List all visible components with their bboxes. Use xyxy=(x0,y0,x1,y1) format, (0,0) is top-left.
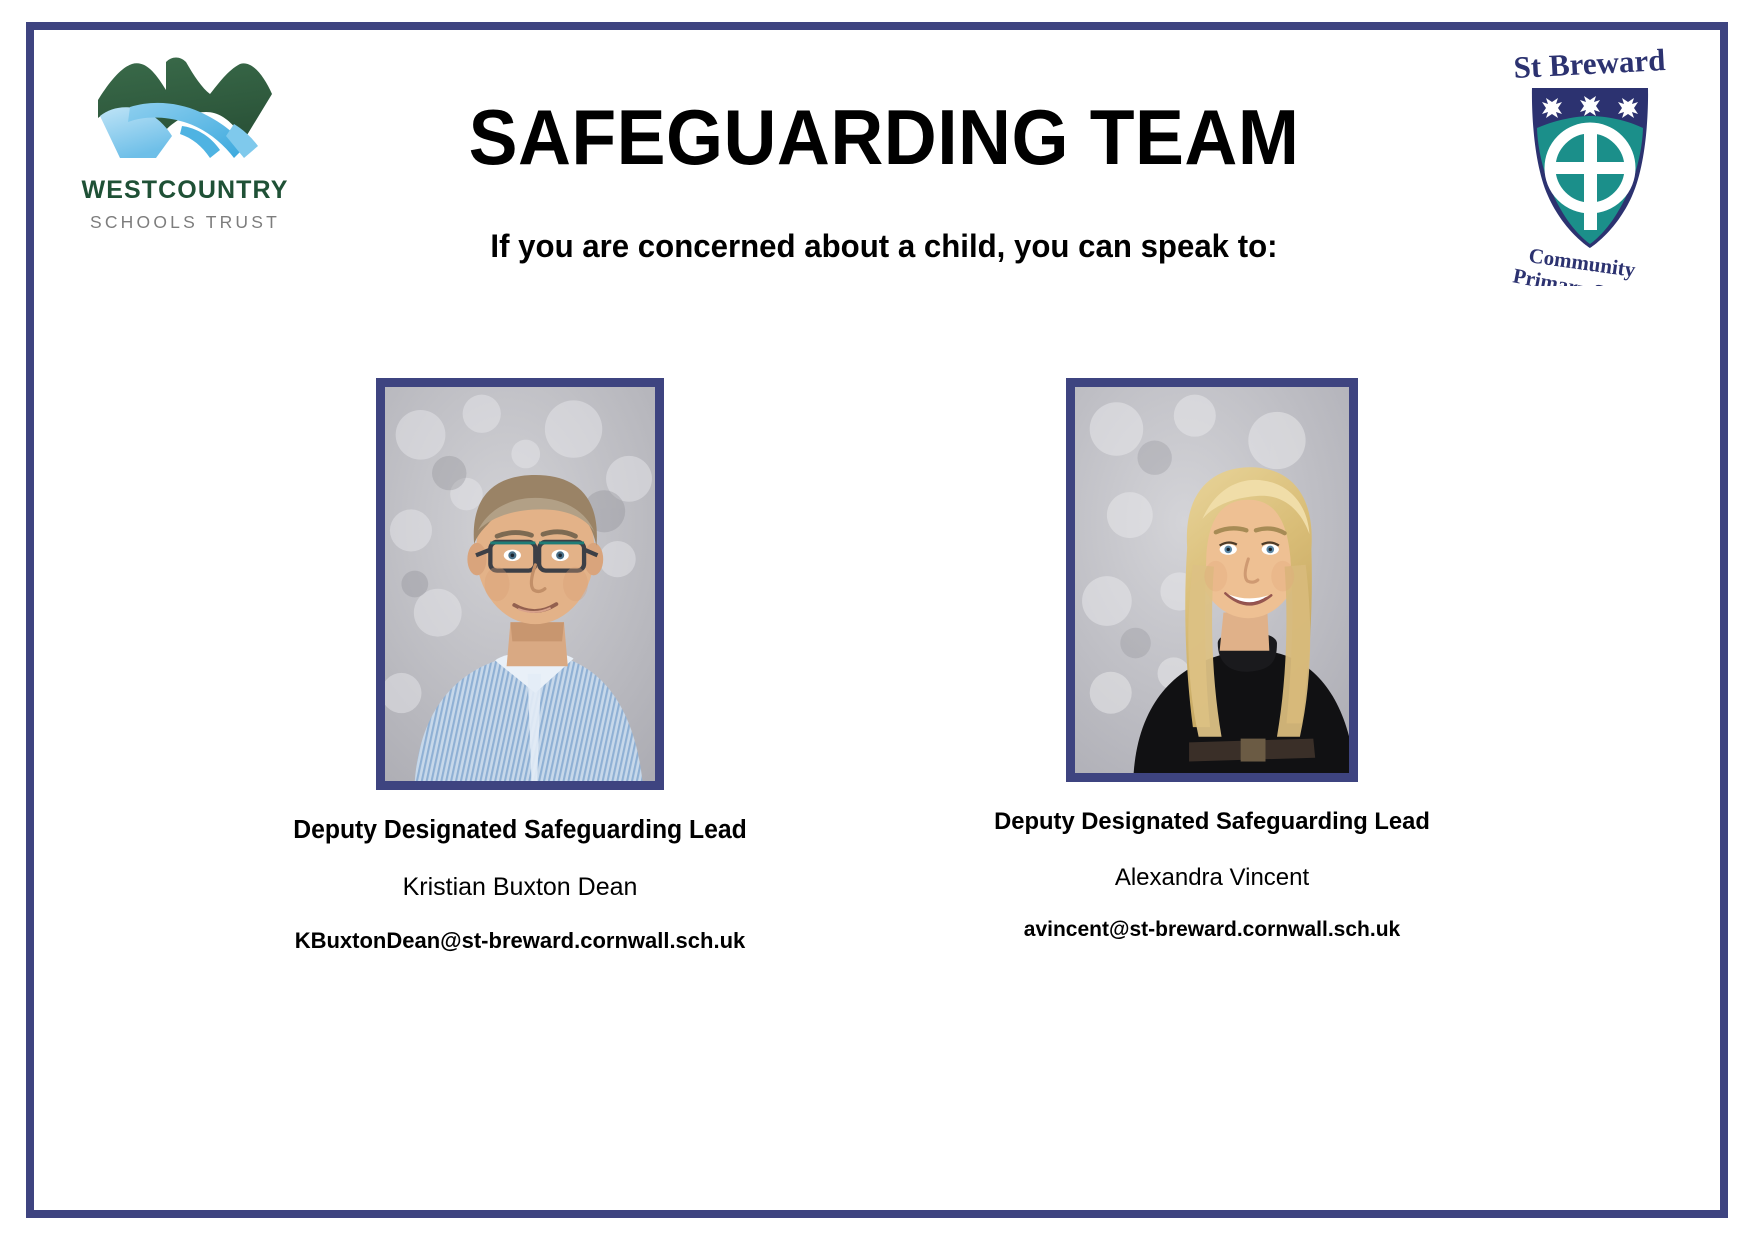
st-breward-crest: St Breward Community Primary School xyxy=(1490,36,1690,286)
page-title: SAFEGUARDING TEAM xyxy=(367,98,1401,176)
person-card: Deputy Designated Safeguarding Lead Kris… xyxy=(237,378,877,954)
portrait-frame xyxy=(1066,378,1358,782)
portrait-alexandra-vincent xyxy=(1075,387,1349,773)
trust-logo-subtitle: SCHOOLS TRUST xyxy=(90,212,280,233)
trust-logo-name: WESTCOUNTRY xyxy=(82,176,289,205)
portrait-kristian-buxton-dean xyxy=(385,387,655,781)
svg-text:St Breward: St Breward xyxy=(1513,42,1666,85)
safeguarding-poster: WESTCOUNTRY SCHOOLS TRUST SAFEGUARDING T… xyxy=(26,22,1728,1218)
person-role: Deputy Designated Safeguarding Lead xyxy=(916,808,1508,836)
school-shield-crest-icon: St Breward Community Primary School xyxy=(1490,36,1690,286)
mountains-river-logo-icon xyxy=(94,54,276,162)
person-card: Deputy Designated Safeguarding Lead Alex… xyxy=(877,378,1517,942)
page-subtitle: If you are concerned about a child, you … xyxy=(356,228,1412,265)
poster-header: WESTCOUNTRY SCHOOLS TRUST SAFEGUARDING T… xyxy=(34,30,1720,308)
safeguarding-people-row: Deputy Designated Safeguarding Lead Kris… xyxy=(34,378,1720,954)
westcountry-schools-trust-logo: WESTCOUNTRY SCHOOLS TRUST xyxy=(70,32,300,250)
person-email[interactable]: avincent@st-breward.cornwall.sch.uk xyxy=(907,918,1517,942)
portrait-frame xyxy=(376,378,664,790)
person-role: Deputy Designated Safeguarding Lead xyxy=(245,816,794,845)
title-block: SAFEGUARDING TEAM If you are concerned a… xyxy=(334,30,1434,265)
person-name: Alexandra Vincent xyxy=(907,864,1517,892)
person-name: Kristian Buxton Dean xyxy=(237,873,803,902)
person-email[interactable]: KBuxtonDean@st-breward.cornwall.sch.uk xyxy=(237,928,803,954)
